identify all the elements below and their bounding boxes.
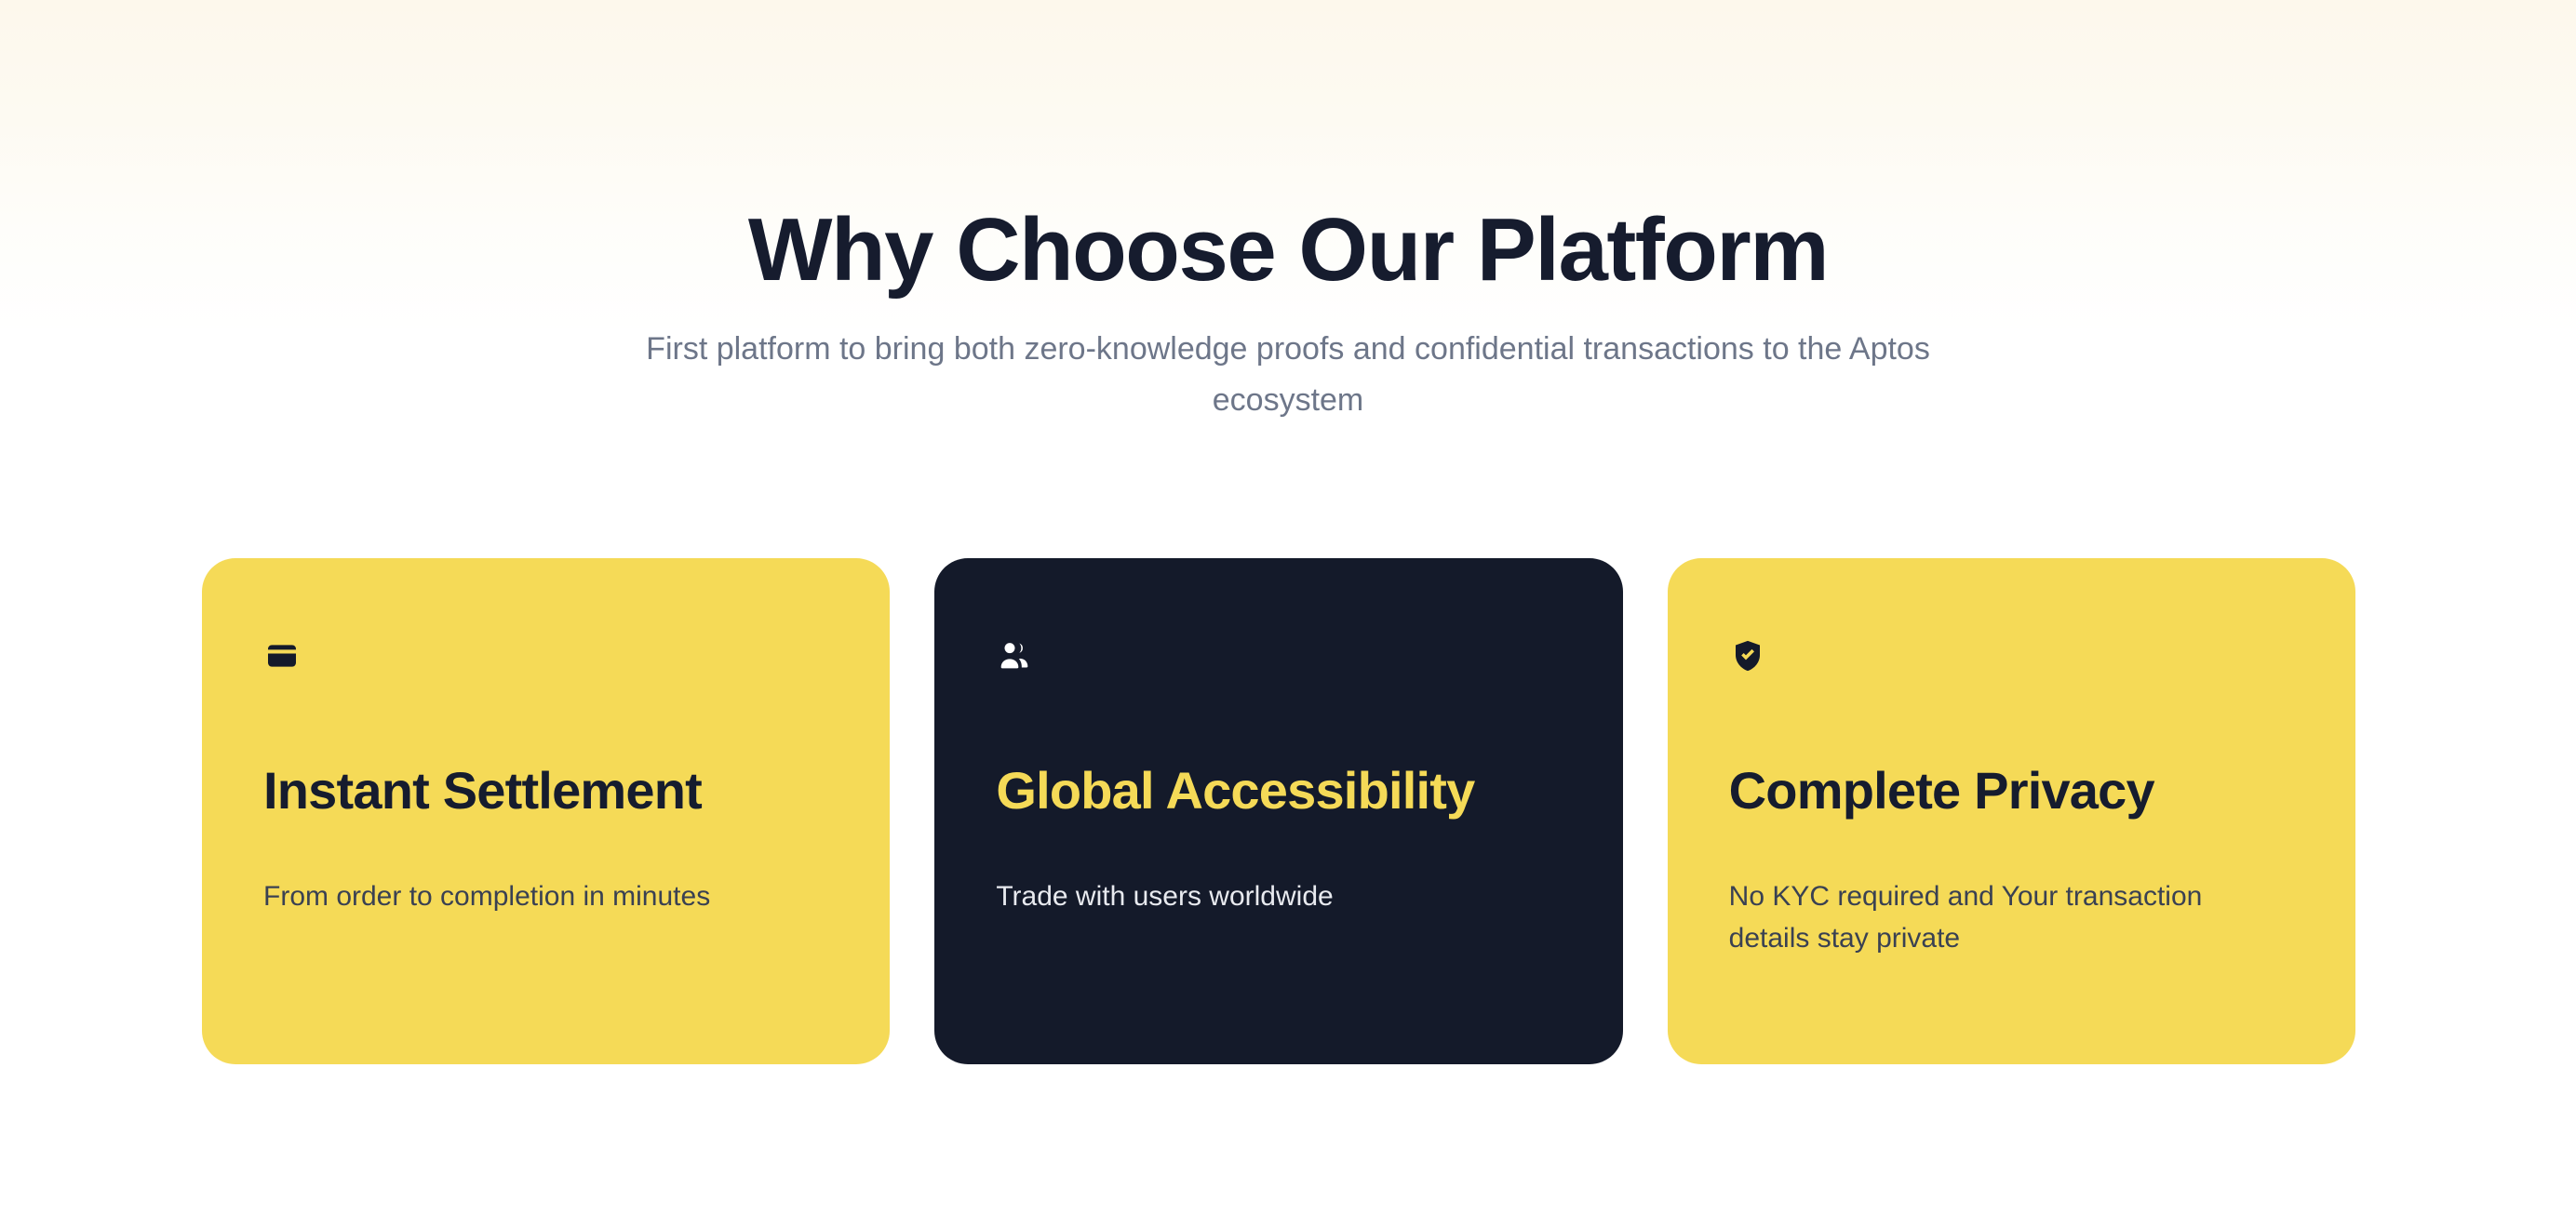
- card-icon-slot: [1729, 634, 2294, 677]
- card-description: From order to completion in minutes: [263, 876, 785, 917]
- page-title: Why Choose Our Platform: [0, 203, 2576, 298]
- card-description: Trade with users worldwide: [996, 876, 1517, 917]
- feature-card-instant-settlement[interactable]: Instant Settlement From order to complet…: [202, 558, 890, 1064]
- card-icon-slot: [263, 634, 828, 677]
- card-title: Global Accessibility: [996, 763, 1561, 819]
- shield-check-icon: [1729, 637, 1766, 674]
- card-description: No KYC required and Your transaction det…: [1729, 876, 2250, 959]
- card-icon-slot: [996, 634, 1561, 677]
- card-title: Complete Privacy: [1729, 763, 2294, 819]
- section-heading-block: Why Choose Our Platform First platform t…: [0, 203, 2576, 426]
- credit-card-icon: [263, 637, 301, 674]
- feature-card-complete-privacy[interactable]: Complete Privacy No KYC required and You…: [1668, 558, 2355, 1064]
- feature-card-global-accessibility[interactable]: Global Accessibility Trade with users wo…: [934, 558, 1622, 1064]
- users-icon: [996, 637, 1033, 674]
- feature-cards-row: Instant Settlement From order to complet…: [202, 558, 2355, 1064]
- card-title: Instant Settlement: [263, 763, 828, 819]
- why-choose-section: Why Choose Our Platform First platform t…: [0, 0, 2576, 1228]
- page-subtitle: First platform to bring both zero-knowle…: [623, 298, 1953, 426]
